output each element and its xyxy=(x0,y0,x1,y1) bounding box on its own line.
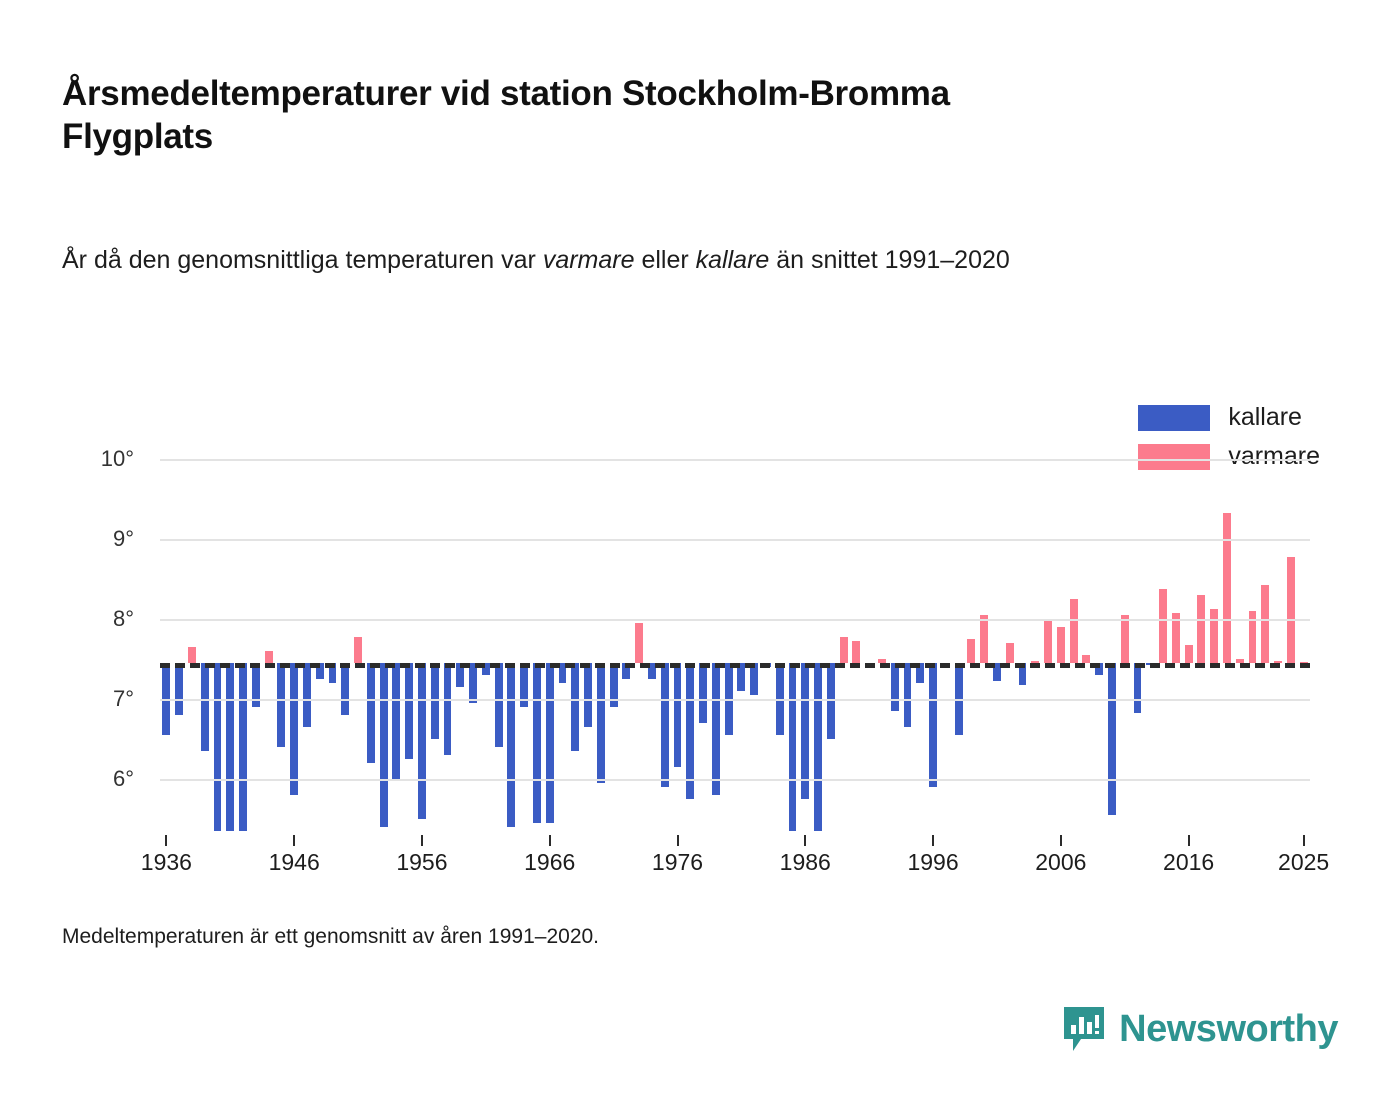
gridline-8 xyxy=(160,619,1310,621)
bar-1988[interactable] xyxy=(827,663,835,739)
gridline-6 xyxy=(160,779,1310,781)
bar-1938[interactable] xyxy=(188,647,196,663)
bar-1950[interactable] xyxy=(341,663,349,715)
bar-1963[interactable] xyxy=(507,663,515,827)
subtitle-text-2: eller xyxy=(635,246,696,274)
bar-1953[interactable] xyxy=(380,663,388,827)
bar-1969[interactable] xyxy=(584,663,592,727)
chart-page: Årsmedeltemperaturer vid station Stockho… xyxy=(0,0,1400,1116)
bar-1946[interactable] xyxy=(290,663,298,795)
chart-footnote: Medeltemperaturen är ett genomsnitt av å… xyxy=(62,925,599,949)
bar-1960[interactable] xyxy=(469,663,477,703)
y-axis-label-7: 7° xyxy=(24,686,134,712)
bar-1954[interactable] xyxy=(392,663,400,779)
bar-2024[interactable] xyxy=(1287,557,1295,663)
bar-1942[interactable] xyxy=(239,663,247,831)
bar-2019[interactable] xyxy=(1223,513,1231,663)
subtitle-text-3: än snittet 1991–2020 xyxy=(769,246,1009,274)
bar-1955[interactable] xyxy=(405,663,413,759)
bar-2014[interactable] xyxy=(1159,589,1167,663)
legend-item-kallare: kallare xyxy=(1138,403,1320,432)
legend-label-kallare: kallare xyxy=(1228,403,1302,432)
gridline-7 xyxy=(160,699,1310,701)
x-axis-label-2016: 2016 xyxy=(1163,849,1214,876)
bar-1966[interactable] xyxy=(546,663,554,823)
x-axis-label-1936: 1936 xyxy=(141,849,192,876)
y-axis-label-10: 10° xyxy=(24,446,134,472)
bar-2012[interactable] xyxy=(1134,663,1142,713)
x-tick-1976 xyxy=(677,835,679,846)
y-axis-label-6: 6° xyxy=(24,766,134,792)
x-tick-1946 xyxy=(293,835,295,846)
bar-1962[interactable] xyxy=(495,663,503,747)
bar-1956[interactable] xyxy=(418,663,426,819)
bar-1941[interactable] xyxy=(226,663,234,831)
bar-1951[interactable] xyxy=(354,637,362,663)
bar-2011[interactable] xyxy=(1121,615,1129,663)
page-title: Årsmedeltemperaturer vid station Stockho… xyxy=(62,72,962,159)
x-tick-2016 xyxy=(1188,835,1190,846)
bar-1976[interactable] xyxy=(674,663,682,767)
x-tick-1966 xyxy=(549,835,551,846)
x-tick-2025 xyxy=(1303,835,1305,846)
gridline-10 xyxy=(160,459,1310,461)
x-tick-1986 xyxy=(804,835,806,846)
x-axis-label-1956: 1956 xyxy=(396,849,447,876)
bar-2022[interactable] xyxy=(1261,585,1269,663)
x-axis-label-1986: 1986 xyxy=(780,849,831,876)
bar-1999[interactable] xyxy=(967,639,975,663)
x-tick-1996 xyxy=(932,835,934,846)
x-tick-1936 xyxy=(165,835,167,846)
bar-2008[interactable] xyxy=(1082,655,1090,663)
bar-2016[interactable] xyxy=(1185,645,1193,663)
page-subtitle: År då den genomsnittliga temperaturen va… xyxy=(62,243,1282,279)
bar-chart-bubble-icon xyxy=(1061,1005,1107,1053)
bar-1994[interactable] xyxy=(904,663,912,727)
bar-1987[interactable] xyxy=(814,663,822,831)
x-axis-label-1976: 1976 xyxy=(652,849,703,876)
subtitle-text-1: År då den genomsnittliga temperaturen va… xyxy=(62,246,543,274)
x-axis-label-2006: 2006 xyxy=(1035,849,1086,876)
bar-1973[interactable] xyxy=(635,623,643,663)
bar-1993[interactable] xyxy=(891,663,899,711)
bar-1975[interactable] xyxy=(661,663,669,787)
bar-1947[interactable] xyxy=(303,663,311,727)
bar-1965[interactable] xyxy=(533,663,541,823)
bar-1989[interactable] xyxy=(840,637,848,663)
x-axis-label-2025: 2025 xyxy=(1278,849,1329,876)
bar-1939[interactable] xyxy=(201,663,209,751)
x-tick-1956 xyxy=(421,835,423,846)
legend-swatch-kallare xyxy=(1138,405,1210,431)
bar-1945[interactable] xyxy=(277,663,285,747)
bar-2005[interactable] xyxy=(1044,619,1052,663)
x-tick-2006 xyxy=(1060,835,1062,846)
y-axis-label-9: 9° xyxy=(24,526,134,552)
bar-2018[interactable] xyxy=(1210,609,1218,663)
bar-1979[interactable] xyxy=(712,663,720,795)
bar-1996[interactable] xyxy=(929,663,937,787)
bar-2010[interactable] xyxy=(1108,663,1116,815)
x-axis-label-1996: 1996 xyxy=(907,849,958,876)
bar-2007[interactable] xyxy=(1070,599,1078,663)
x-axis-label-1946: 1946 xyxy=(269,849,320,876)
bar-1944[interactable] xyxy=(265,651,273,663)
bar-2006[interactable] xyxy=(1057,627,1065,663)
bar-1985[interactable] xyxy=(789,663,797,831)
bar-2000[interactable] xyxy=(980,615,988,663)
bar-2002[interactable] xyxy=(1006,643,1014,663)
x-axis-label-1966: 1966 xyxy=(524,849,575,876)
bar-1937[interactable] xyxy=(175,663,183,715)
brand-name: Newsworthy xyxy=(1119,1008,1338,1051)
gridline-9 xyxy=(160,539,1310,541)
bar-1940[interactable] xyxy=(214,663,222,831)
bar-1958[interactable] xyxy=(444,663,452,755)
temperature-bar-chart: kallare varmare 6°7°8°9°10° 193619461956… xyxy=(62,395,1332,865)
average-reference-line xyxy=(160,663,1310,668)
bar-1968[interactable] xyxy=(571,663,579,751)
bar-1957[interactable] xyxy=(431,663,439,739)
x-axis: 1936194619561966197619861996200620162025 xyxy=(160,835,1310,895)
newsworthy-logo[interactable]: Newsworthy xyxy=(1061,1005,1338,1053)
bar-1990[interactable] xyxy=(852,641,860,663)
bar-2017[interactable] xyxy=(1197,595,1205,663)
bars-container xyxy=(160,435,1310,835)
bar-1978[interactable] xyxy=(699,663,707,723)
y-axis-label-8: 8° xyxy=(24,606,134,632)
bar-1952[interactable] xyxy=(367,663,375,763)
subtitle-emphasis-warmer: varmare xyxy=(543,246,635,274)
subtitle-emphasis-colder: kallare xyxy=(696,246,770,274)
plot-area: 6°7°8°9°10° xyxy=(160,435,1310,835)
bar-1970[interactable] xyxy=(597,663,605,783)
